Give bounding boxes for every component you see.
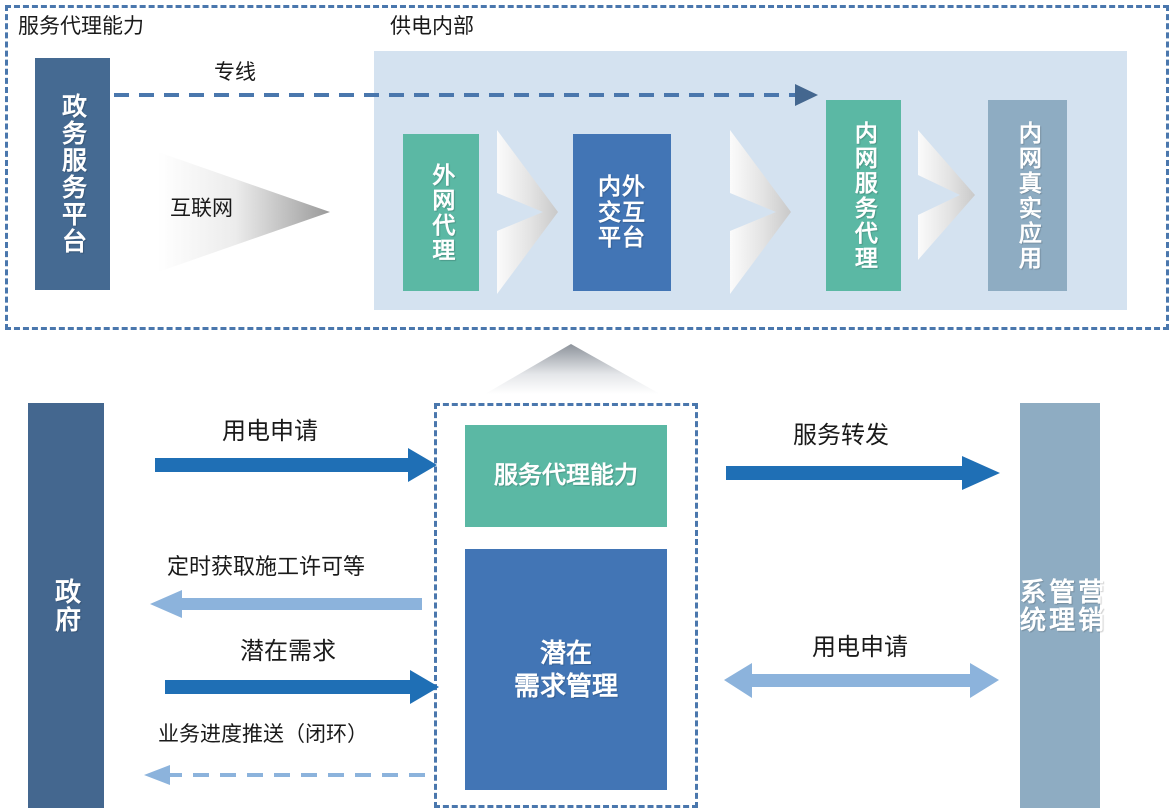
flow-label-power-application-gov: 用电申请 <box>222 420 318 444</box>
flow-arrow-business-progress-push <box>144 765 425 785</box>
node-external-network-proxy[interactable]: 外网代理 <box>403 134 479 291</box>
node-government-label: 政府 <box>51 578 80 634</box>
node-gov-service-platform-label: 政务服务平台 <box>59 93 87 255</box>
dedicated-line-label: 专线 <box>214 62 256 83</box>
flow-label-service-forward: 服务转发 <box>793 424 889 448</box>
top-right-caption: 供电内部 <box>390 16 474 37</box>
node-internal-external-platform-label: 内外交互平台 <box>596 174 648 251</box>
diagram-canvas: 服务代理能力 供电内部 政务服务平台 专线 互联网 外网代理 内外交互平台 内网… <box>0 0 1174 811</box>
node-marketing-management-system[interactable]: 营销 管理 系统 <box>1020 403 1100 808</box>
node-potential-demand-management[interactable]: 潜在 需求管理 <box>465 549 667 790</box>
node-intranet-service-proxy[interactable]: 内网服务代理 <box>826 100 901 291</box>
flow-arrow-potential-demand <box>165 670 439 704</box>
flow-label-power-application-marketing: 用电申请 <box>812 636 908 660</box>
node-marketing-management-system-label: 营销 管理 系统 <box>1016 578 1103 634</box>
upward-gradient-arrow <box>485 344 660 394</box>
flow-arrow-power-application-marketing <box>724 663 999 698</box>
node-service-agent-capability[interactable]: 服务代理能力 <box>465 425 667 527</box>
flow-arrow-construction-permit <box>150 590 422 618</box>
node-intranet-real-application[interactable]: 内网真实应用 <box>988 100 1067 291</box>
node-service-agent-capability-label: 服务代理能力 <box>494 461 638 491</box>
node-gov-service-platform[interactable]: 政务服务平台 <box>35 58 110 290</box>
flow-label-business-progress-push: 业务进度推送（闭环） <box>158 724 368 745</box>
flow-arrow-power-application-gov <box>155 448 437 482</box>
node-internal-external-platform[interactable]: 内外交互平台 <box>573 134 671 291</box>
node-external-network-proxy-label: 外网代理 <box>428 163 454 263</box>
node-government[interactable]: 政府 <box>28 403 104 808</box>
flow-arrow-service-forward <box>726 456 1000 490</box>
internet-label: 互联网 <box>170 198 233 219</box>
node-intranet-real-application-label: 内网真实应用 <box>1015 121 1041 271</box>
node-intranet-service-proxy-label: 内网服务代理 <box>851 121 877 271</box>
top-left-caption: 服务代理能力 <box>18 16 144 37</box>
flow-label-construction-permit: 定时获取施工许可等 <box>167 556 365 578</box>
node-potential-demand-management-label: 潜在 需求管理 <box>514 637 618 702</box>
flow-label-potential-demand: 潜在需求 <box>240 640 336 664</box>
